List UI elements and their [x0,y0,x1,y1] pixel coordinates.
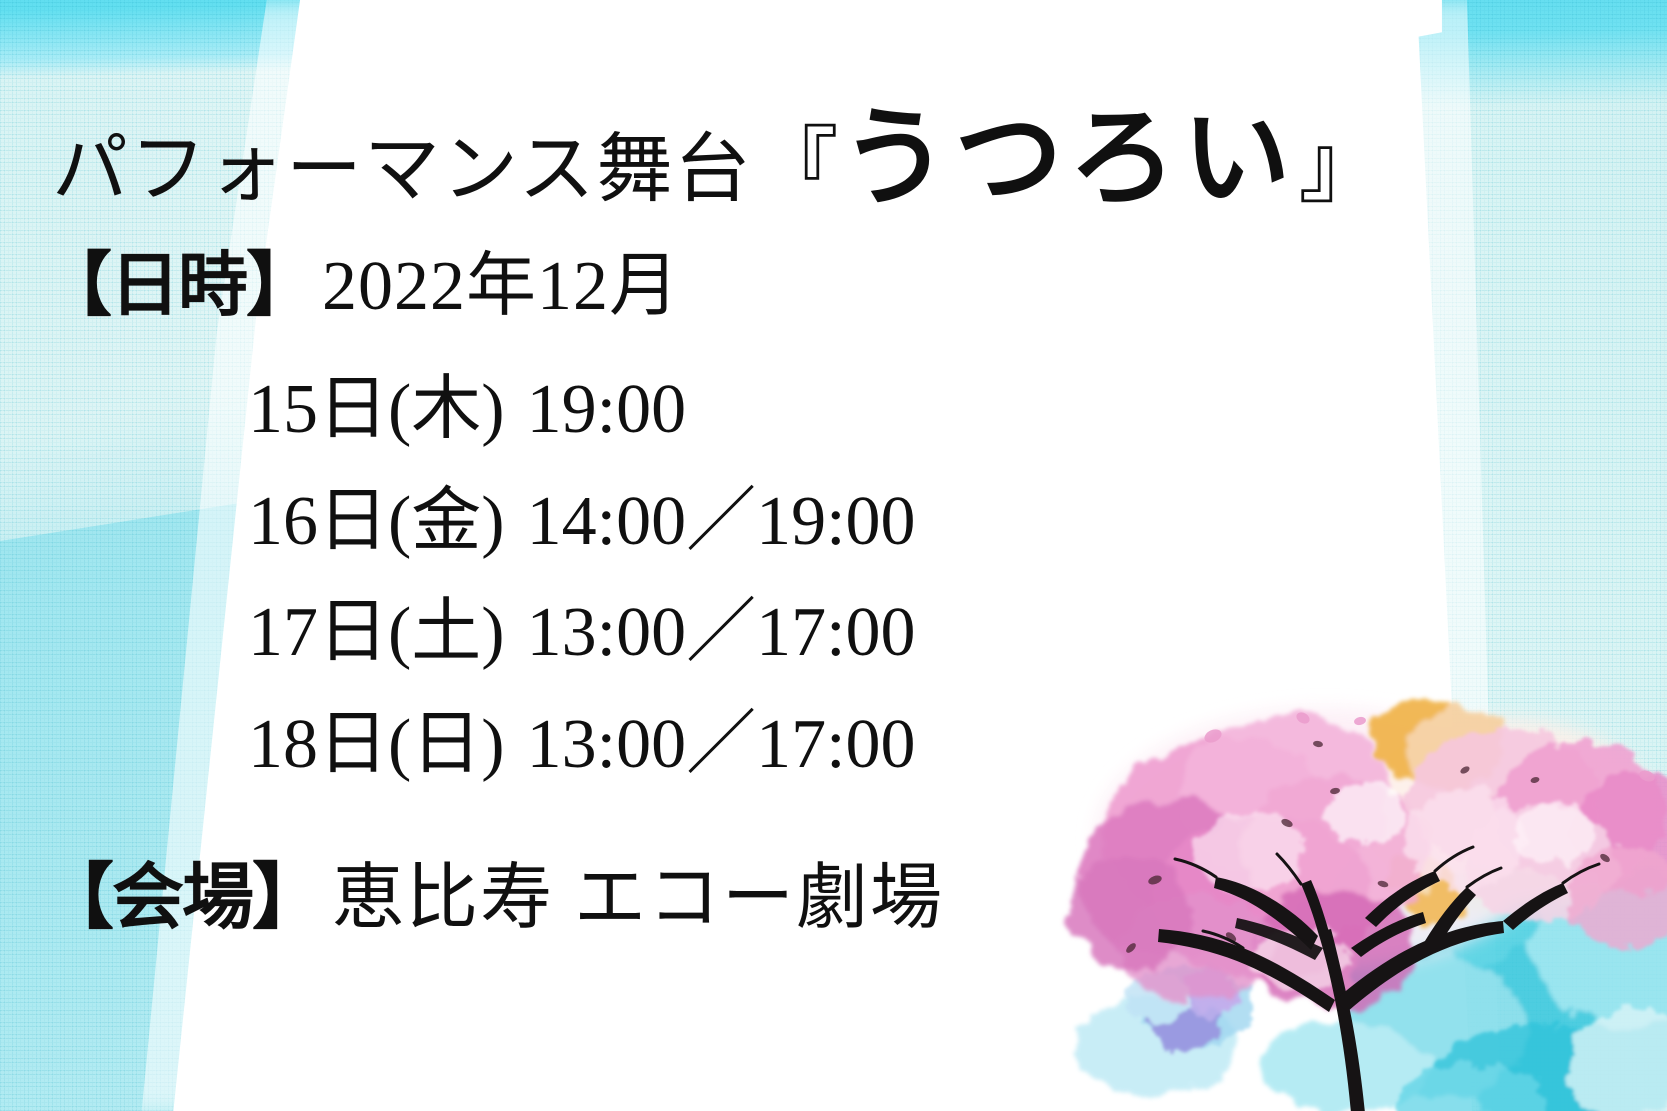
schedule-row: 16日(金)14:00／19:00 [248,487,916,557]
schedule-day: 17日(土) [248,594,505,671]
page-title: パフォーマンス舞台 『 うつろい 』 [52,104,1385,212]
schedule-times: 14:00／19:00 [527,483,916,560]
schedule-times: 19:00 [527,371,686,448]
schedule-day: 18日(日) [248,706,505,783]
poster-text-layer: パフォーマンス舞台 『 うつろい 』 【日時】2022年12月 15日(木)19… [0,0,1667,1111]
title-open-bracket: 『 [754,126,838,210]
title-prefix: パフォーマンス舞台 [52,132,752,208]
schedule-row: 17日(土)13:00／17:00 [248,598,916,668]
schedule-times: 13:00／17:00 [527,594,916,671]
datetime-heading: 【日時】2022年12月 [42,252,680,322]
schedule-row: 15日(木)19:00 [248,375,686,445]
venue-line: 【会場】恵比寿 エコー劇場 [42,862,944,934]
datetime-label: 【日時】 [42,248,314,325]
datetime-value: 2022年12月 [322,248,680,325]
venue-value: 恵比寿 エコー劇場 [332,858,944,938]
schedule-times: 13:00／17:00 [527,706,916,783]
schedule-row: 18日(日)13:00／17:00 [248,710,916,780]
venue-label: 【会場】 [42,858,322,938]
title-close-bracket: 』 [1299,126,1383,210]
title-main: うつろい [841,104,1297,212]
schedule-day: 15日(木) [248,371,505,448]
schedule-day: 16日(金) [248,483,505,560]
poster-canvas: パフォーマンス舞台 『 うつろい 』 【日時】2022年12月 15日(木)19… [0,0,1667,1111]
